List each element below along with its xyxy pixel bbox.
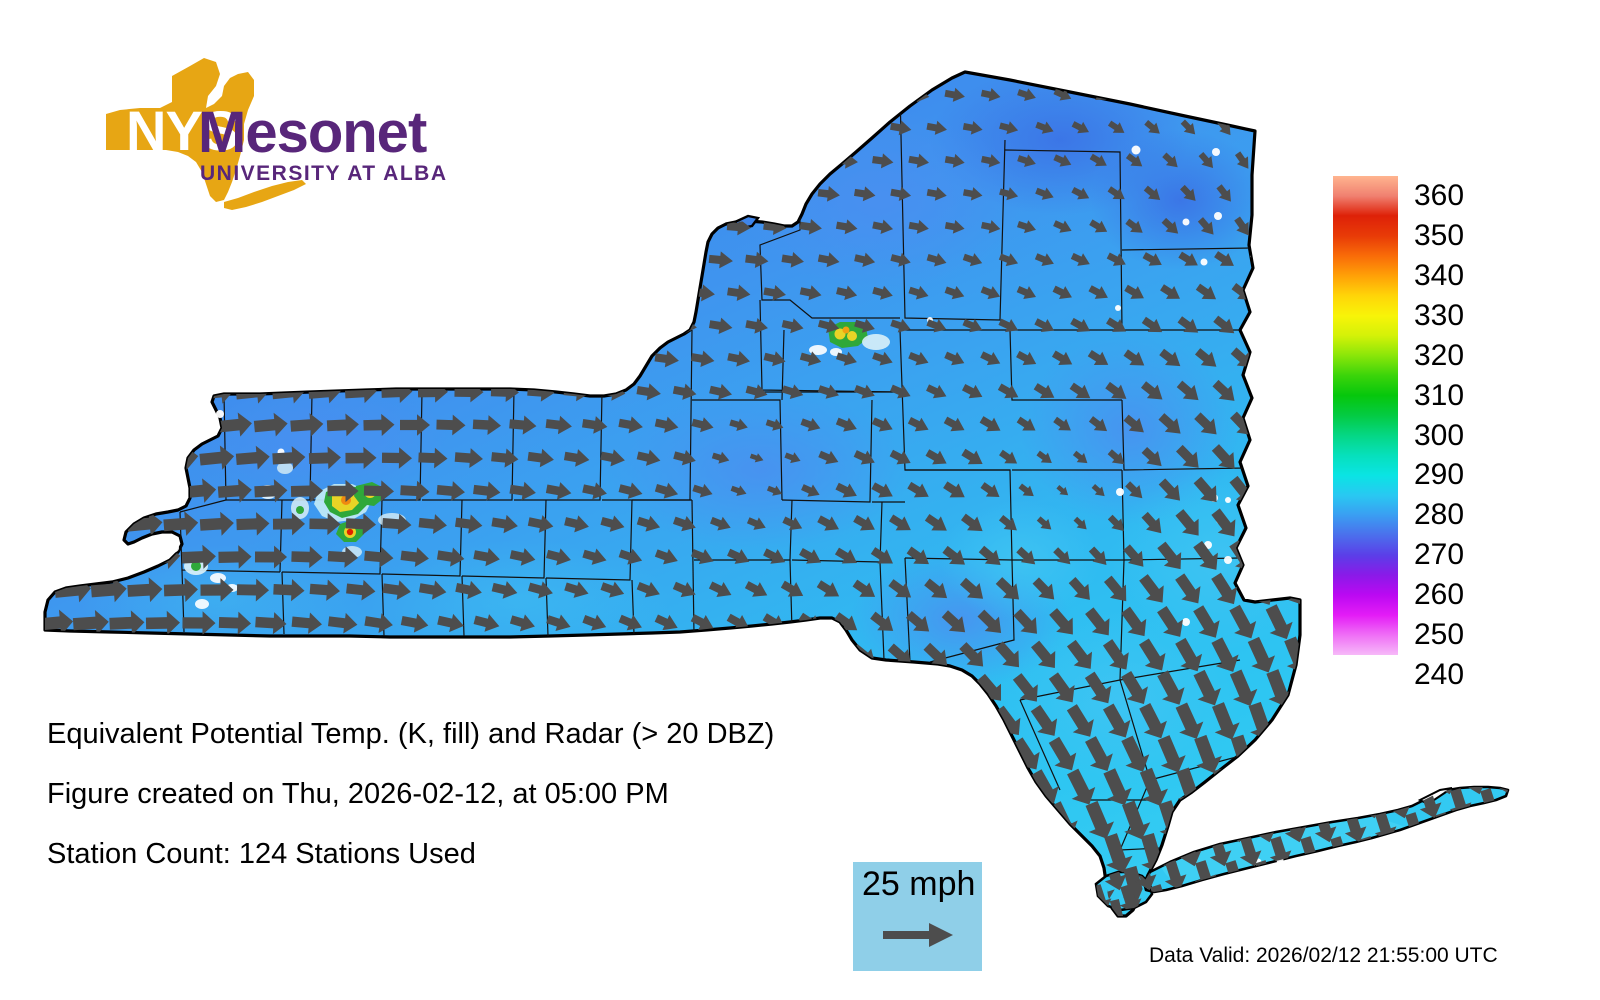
wind-arrow: [144, 411, 181, 439]
wind-arrow: [525, 116, 557, 141]
wind-arrow: [543, 149, 575, 173]
wind-arrow: [128, 644, 162, 669]
wind-arrow: [527, 644, 556, 669]
wind-arrow: [563, 644, 592, 669]
wind-arrow: [1415, 882, 1446, 918]
wind-arrow: [200, 906, 234, 934]
wind-arrow: [381, 905, 414, 935]
wind-arrow: [1370, 762, 1401, 798]
wind-arrow: [1190, 906, 1221, 942]
colorbar-tick-310: 310: [1414, 381, 1464, 411]
wind-arrow: [654, 217, 680, 236]
wind-arrow: [289, 346, 324, 373]
wind-arrow: [36, 411, 74, 440]
wind-arrow: [1385, 834, 1416, 870]
wind-arrow: [616, 676, 646, 702]
wind-arrow: [470, 82, 503, 107]
wind-arrow: [1278, 700, 1315, 745]
wind-arrow: [708, 185, 734, 204]
wind-arrow: [127, 312, 163, 340]
wind-scale-arrow-icon: [883, 920, 955, 955]
wind-arrow: [74, 280, 109, 307]
wind-arrow: [364, 677, 395, 702]
wind-arrow: [325, 280, 360, 307]
wind-arrow: [1043, 864, 1083, 911]
wind-arrow: [91, 312, 127, 339]
wind-arrow: [1400, 906, 1431, 942]
wind-arrow: [580, 676, 609, 702]
wind-arrow: [581, 349, 608, 370]
wind-arrow: [1283, 246, 1311, 273]
wind-arrow: [817, 119, 841, 137]
wind-arrow: [702, 900, 741, 939]
wind-arrow: [73, 345, 110, 373]
wind-arrow: [398, 280, 432, 305]
wind-arrow: [689, 85, 717, 106]
wind-arrow: [327, 677, 358, 702]
wind-arrow: [199, 246, 234, 273]
wind-arrow: [1280, 762, 1311, 798]
wind-arrow: [616, 83, 647, 106]
colorbar-tick-290: 290: [1414, 460, 1464, 490]
wind-arrow: [598, 117, 628, 140]
wind-arrow: [380, 313, 413, 338]
wind-arrow: [617, 217, 644, 236]
wind-arrow: [1281, 311, 1312, 342]
wind-scale-label: 25 mph: [862, 865, 975, 904]
wind-arrow: [1278, 504, 1316, 544]
wind-arrow: [853, 119, 876, 137]
wind-arrow: [236, 906, 269, 935]
wind-arrow: [1460, 906, 1491, 942]
wind-arrow: [271, 246, 306, 273]
wind-arrow: [454, 644, 484, 668]
wind-arrow: [1520, 762, 1551, 798]
wind-arrow: [563, 250, 591, 270]
wind-arrow: [1243, 765, 1280, 810]
wind-arrow: [452, 904, 486, 935]
wind-arrow: [1520, 858, 1551, 894]
wind-arrow: [1445, 882, 1476, 918]
wind-arrow: [454, 315, 485, 338]
wind-arrow: [217, 279, 253, 306]
wind-arrow: [163, 247, 198, 274]
wind-arrow: [866, 672, 900, 706]
wind-arrow: [181, 411, 218, 439]
wind-arrow: [36, 542, 75, 572]
colorbar-tick-280: 280: [1414, 500, 1464, 530]
wind-arrow: [200, 644, 233, 668]
wind-arrow: [90, 444, 128, 473]
wind-arrow: [416, 247, 450, 273]
wind-arrow: [763, 152, 788, 170]
wind-arrow: [1260, 536, 1298, 577]
wind-arrow: [579, 83, 610, 107]
wind-arrow: [989, 766, 1029, 809]
wind-arrow: [144, 477, 181, 505]
wind-arrow: [218, 676, 251, 701]
wind-arrow: [55, 906, 91, 934]
wind-arrow: [1490, 906, 1521, 942]
wind-arrow: [636, 316, 663, 336]
wind-arrow: [181, 345, 218, 373]
wind-arrow: [1355, 882, 1386, 918]
wind-arrow: [38, 280, 72, 306]
wind-arrow: [164, 644, 198, 668]
wind-arrow: [345, 905, 378, 934]
wind-arrow: [1286, 181, 1308, 206]
wind-arrow: [436, 348, 467, 370]
wind-arrow: [745, 185, 770, 204]
wind-arrow: [706, 642, 736, 669]
wind-arrow: [489, 182, 522, 207]
wind-arrow: [1130, 906, 1161, 942]
wind-arrow: [489, 248, 520, 271]
wind-arrow: [126, 378, 163, 406]
wind-arrow: [652, 84, 681, 106]
wind-arrow: [636, 250, 663, 269]
wind-arrow: [795, 673, 827, 704]
wind-arrow: [830, 673, 863, 705]
wind-arrow: [1490, 810, 1521, 846]
colorbar-tick-260: 260: [1414, 580, 1464, 610]
wind-arrow: [108, 543, 145, 571]
wind-arrow: [126, 444, 164, 473]
wind-arrow: [742, 642, 772, 670]
wind-arrow: [490, 315, 519, 336]
wind-arrow: [54, 378, 91, 406]
wind-arrow: [544, 676, 573, 702]
wind-arrow: [618, 283, 645, 303]
wind-arrow: [1209, 899, 1242, 942]
wind-arrow: [128, 906, 163, 934]
wind-arrow: [781, 119, 805, 137]
wind-arrow: [1242, 504, 1279, 543]
wind-arrow: [562, 183, 592, 206]
wind-arrow: [309, 644, 341, 669]
wind-arrow: [1260, 733, 1297, 778]
wind-arrow: [307, 313, 342, 340]
colorbar: [1333, 176, 1398, 655]
wind-arrow: [217, 345, 253, 373]
wind-arrow: [128, 247, 163, 274]
wind-arrow: [145, 279, 181, 306]
wind-arrow: [545, 349, 573, 370]
wind-arrow: [1325, 786, 1356, 822]
wind-arrow: [472, 349, 501, 370]
wind-arrow: [291, 676, 323, 701]
wind-arrow: [271, 312, 307, 339]
wind-arrow: [1445, 834, 1476, 870]
wind-arrow: [253, 345, 289, 372]
wind-arrow: [1282, 900, 1311, 940]
wind-arrow: [507, 215, 538, 239]
wind-arrow: [1385, 882, 1416, 918]
wind-arrow: [1269, 84, 1289, 106]
wind-arrow: [37, 675, 74, 702]
wind-arrow: [509, 349, 537, 370]
wind-arrow: [163, 378, 200, 406]
wind-arrow: [1340, 906, 1371, 942]
wind-arrow: [1235, 882, 1266, 918]
wind-arrow: [561, 116, 593, 140]
wind-arrow: [164, 906, 198, 934]
wind-arrow: [1400, 762, 1431, 798]
wind-arrow: [91, 643, 127, 669]
wind-arrow: [273, 644, 305, 669]
wind-arrow: [490, 644, 519, 669]
wind-arrow: [72, 411, 110, 440]
wind-arrow: [778, 642, 809, 671]
wind-arrow: [1295, 882, 1326, 918]
wind-arrow: [362, 280, 396, 306]
wind-arrow: [1310, 858, 1341, 894]
wind-arrow: [255, 676, 287, 701]
wind-arrow: [489, 115, 522, 140]
wind-arrow: [652, 675, 682, 702]
wind-arrow: [599, 250, 626, 269]
colorbar-tick-340: 340: [1414, 261, 1464, 291]
wind-arrow: [1490, 858, 1521, 894]
colorbar-tick-350: 350: [1414, 221, 1464, 251]
wind-arrow: [1205, 882, 1236, 918]
wind-arrow: [436, 677, 466, 702]
wind-arrow: [91, 906, 126, 934]
wind-arrow: [1160, 906, 1191, 942]
wind-arrow: [544, 216, 574, 238]
wind-arrow: [508, 282, 538, 304]
wind-arrow: [871, 86, 894, 103]
wind-arrow: [90, 378, 127, 406]
wind-arrow: [953, 767, 992, 809]
wind-arrow: [1325, 882, 1356, 918]
wind-arrow: [1188, 798, 1226, 844]
wind-arrow: [507, 149, 539, 174]
colorbar-tick-250: 250: [1414, 620, 1464, 650]
wind-arrow: [472, 676, 502, 701]
wind-arrow: [1279, 766, 1314, 810]
wind-arrow: [1310, 762, 1341, 798]
wind-arrow: [1265, 786, 1296, 822]
wind-arrow: [635, 184, 662, 204]
wind-arrow: [400, 677, 430, 702]
wind-arrow: [1505, 834, 1536, 870]
wind-arrow: [524, 903, 559, 936]
wind-arrow: [835, 86, 859, 103]
wind-arrow: [435, 281, 467, 305]
colorbar-tick-330: 330: [1414, 301, 1464, 331]
wind-arrow: [362, 347, 395, 372]
wind-arrow: [1160, 85, 1181, 106]
wind-arrow: [1400, 858, 1431, 894]
wind-arrow: [1370, 906, 1401, 942]
wind-arrow: [666, 901, 704, 939]
colorbar-tick-240: 240: [1414, 660, 1464, 690]
wind-arrow: [654, 283, 680, 303]
wind-arrow: [672, 250, 698, 269]
wind-arrow: [726, 85, 753, 104]
wind-arrow: [1475, 882, 1506, 918]
wind-arrow: [1264, 279, 1293, 307]
wind-arrow: [380, 247, 414, 273]
wind-arrow: [1235, 786, 1266, 822]
caption-block: Equivalent Potential Temp. (K, fill) and…: [47, 718, 947, 898]
wind-arrow: [813, 641, 845, 671]
wind-arrow: [1340, 762, 1371, 798]
wind-arrow: [972, 734, 1011, 775]
wind-arrow: [289, 279, 324, 306]
caption-title: Equivalent Potential Temp. (K, fill) and…: [47, 718, 947, 751]
wind-arrow: [56, 247, 90, 273]
logo-mesonet-text: Mesonet: [198, 100, 427, 165]
caption-station-count: Station Count: 124 Stations Used: [47, 838, 947, 871]
wind-arrow: [182, 677, 215, 702]
wind-arrow: [618, 349, 645, 370]
wind-arrow: [109, 280, 144, 307]
wind-arrow: [382, 644, 413, 669]
wind-arrow: [635, 643, 664, 669]
wind-arrow: [724, 675, 755, 704]
wind-arrow: [759, 674, 791, 704]
wind-arrow: [1220, 906, 1251, 942]
wind-arrow: [110, 677, 144, 702]
wind-arrow: [418, 644, 448, 668]
wind-arrow: [1263, 866, 1295, 908]
wind-arrow: [54, 642, 91, 669]
wind-arrow: [1505, 786, 1536, 822]
wind-arrow: [453, 248, 485, 272]
wind-arrow: [1172, 898, 1206, 942]
wind-arrow: [1007, 864, 1048, 911]
wind-arrow: [1520, 906, 1551, 942]
wind-arrow: [690, 152, 716, 171]
wind-arrow: [326, 346, 361, 372]
wind-arrow: [72, 542, 110, 571]
wind-arrow: [181, 279, 217, 306]
wind-arrow: [989, 831, 1030, 877]
wind-arrow: [452, 181, 485, 206]
wind-arrow: [163, 312, 199, 340]
wind-arrow: [1280, 858, 1311, 894]
wind-arrow: [809, 898, 850, 941]
wind-arrow: [781, 185, 805, 203]
colorbar-tick-labels: 360350340330320310300290280270260250240: [1414, 176, 1534, 655]
wind-arrow: [599, 316, 626, 336]
wind-arrow: [1025, 831, 1066, 877]
wind-arrow: [309, 906, 342, 935]
wind-arrow: [634, 117, 663, 139]
wind-arrow: [1233, 84, 1253, 105]
wind-arrow: [762, 86, 787, 104]
wind-arrow: [1310, 906, 1341, 942]
wind-arrow: [1007, 799, 1047, 844]
wind-arrow: [237, 644, 270, 669]
wind-arrow: [971, 799, 1011, 843]
wind-arrow: [1520, 810, 1551, 846]
wind-arrow: [417, 314, 449, 338]
wind-arrow: [580, 150, 610, 173]
wind-arrow: [1460, 810, 1491, 846]
nys-mesonet-logo: NYS Mesonet UNIVERSITY AT ALBANY: [48, 52, 448, 232]
colorbar-tick-300: 300: [1414, 421, 1464, 451]
wind-arrow: [307, 247, 342, 274]
colorbar-tick-320: 320: [1414, 341, 1464, 371]
wind-arrow: [37, 345, 73, 373]
wind-arrow: [452, 115, 485, 140]
wind-arrow: [1295, 786, 1326, 822]
wind-arrow: [672, 185, 698, 204]
wind-arrow: [527, 316, 555, 336]
wind-arrow: [235, 246, 271, 273]
wind-arrow: [1205, 786, 1236, 822]
wind-arrow: [688, 675, 718, 703]
wind-arrow: [1279, 439, 1315, 477]
wind-arrow: [471, 282, 502, 305]
wind-arrow: [344, 313, 379, 339]
wind-arrow: [1190, 810, 1221, 846]
wind-arrow: [471, 215, 504, 240]
wind-arrow: [581, 217, 610, 238]
wind-arrow: [989, 896, 1030, 943]
colorbar-tick-270: 270: [1414, 540, 1464, 570]
wind-arrow: [145, 345, 182, 373]
wind-arrow: [272, 906, 305, 935]
wind-arrow: [1025, 896, 1065, 943]
wind-arrow: [1280, 375, 1314, 409]
wind-arrow: [543, 83, 575, 107]
wind-arrow: [599, 643, 628, 668]
wind-arrow: [1262, 407, 1296, 442]
wind-arrow: [416, 905, 449, 935]
wind-arrow: [470, 148, 503, 173]
wind-arrow: [1505, 882, 1536, 918]
wind-arrow: [399, 347, 431, 371]
wind-arrow: [72, 476, 110, 505]
colorbar-tick-360: 360: [1414, 181, 1464, 211]
wind-arrow: [1280, 906, 1311, 942]
wind-arrow: [36, 476, 74, 505]
wind-arrow: [526, 249, 556, 271]
wind-arrow: [1070, 906, 1101, 942]
wind-arrow: [799, 86, 823, 103]
wind-arrow: [1197, 84, 1218, 105]
wind-arrow: [55, 312, 91, 339]
wind-arrow: [708, 118, 734, 137]
wind-arrow: [1246, 311, 1276, 340]
data-valid-timestamp: Data Valid: 2026/02/12 21:55:00 UTC: [1149, 944, 1498, 968]
logo-subtitle-text: UNIVERSITY AT ALBANY: [200, 162, 448, 185]
wind-arrow: [670, 643, 699, 669]
wind-arrow: [92, 247, 126, 273]
wind-arrow: [73, 676, 108, 702]
wind-arrow: [235, 312, 271, 340]
wind-arrow: [737, 900, 776, 941]
wind-arrow: [508, 676, 537, 701]
wind-arrow: [1267, 214, 1291, 240]
wind-arrow: [745, 119, 770, 137]
wind-arrow: [345, 644, 376, 669]
caption-created: Figure created on Thu, 2026-02-12, at 05…: [47, 778, 947, 811]
wind-arrow: [599, 183, 628, 204]
wind-arrow: [54, 444, 92, 473]
wind-arrow: [937, 671, 973, 707]
wind-arrow: [253, 279, 289, 306]
wind-arrow: [1475, 834, 1506, 870]
wind-arrow: [1460, 858, 1491, 894]
wind-arrow: [90, 509, 128, 538]
wind-arrow: [1062, 897, 1101, 943]
wind-arrow: [1430, 906, 1461, 942]
